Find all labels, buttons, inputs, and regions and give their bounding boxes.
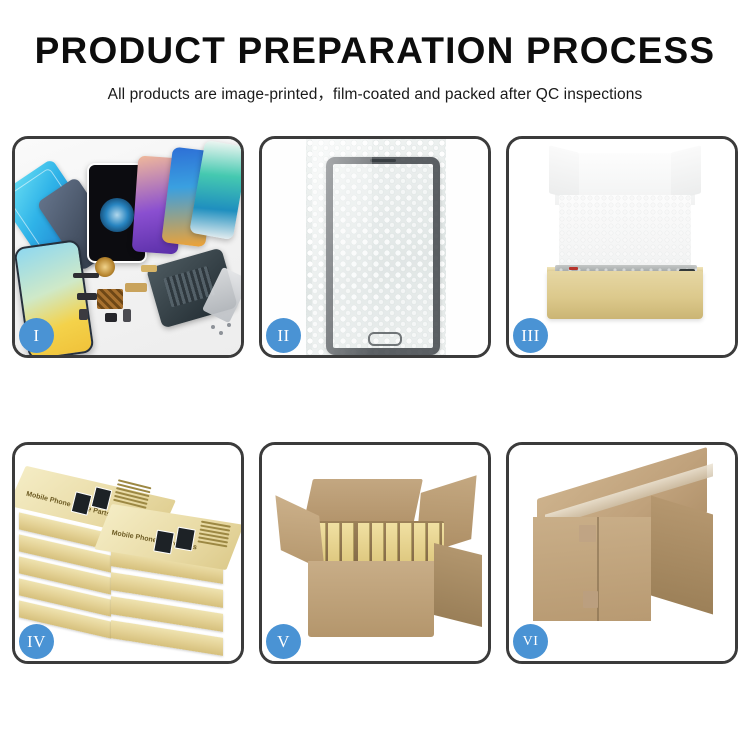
phone-screen-glass bbox=[326, 157, 440, 355]
step-badge-5: V bbox=[266, 624, 301, 659]
box-stack: Mobile Phone Spare Parts Mobile Phone Sp… bbox=[15, 457, 241, 657]
step-badge-1: I bbox=[19, 318, 54, 353]
process-step-3: III bbox=[506, 136, 738, 358]
spare-part-button bbox=[123, 309, 131, 322]
process-step-4: Mobile Phone Spare Parts Mobile Phone Sp… bbox=[12, 442, 244, 664]
step-badge-2: II bbox=[266, 318, 301, 353]
spare-part-camera bbox=[105, 313, 117, 322]
spare-part-grid bbox=[97, 289, 123, 309]
box-checklist-front bbox=[197, 521, 231, 550]
spare-part-flex-cable bbox=[125, 283, 147, 292]
header: PRODUCT PREPARATION PROCESS All products… bbox=[0, 0, 750, 104]
spare-part-gold-clip bbox=[141, 265, 157, 272]
process-step-6: VI bbox=[506, 442, 738, 664]
carton-side-face bbox=[434, 543, 482, 627]
screw-icon bbox=[227, 323, 231, 327]
process-grid: I II III bbox=[12, 136, 738, 664]
spare-part-bracket bbox=[77, 293, 97, 300]
page-subtitle: All products are image-printed，film-coat… bbox=[0, 82, 750, 104]
spare-part-strip bbox=[73, 273, 99, 278]
box-lid-left bbox=[549, 145, 579, 200]
product-preparation-infographic: PRODUCT PREPARATION PROCESS All products… bbox=[0, 0, 750, 750]
carton-flap-back bbox=[303, 479, 423, 525]
process-step-5: V bbox=[259, 442, 491, 664]
screw-icon bbox=[211, 325, 215, 329]
screw-icon bbox=[219, 331, 223, 335]
step-badge-4: IV bbox=[19, 624, 54, 659]
page-title: PRODUCT PREPARATION PROCESS bbox=[0, 32, 750, 69]
process-step-2: II bbox=[259, 136, 491, 358]
step-badge-3: III bbox=[513, 318, 548, 353]
box-front-wall bbox=[547, 271, 703, 319]
carton-tab-upper bbox=[579, 525, 596, 542]
process-step-1: I bbox=[12, 136, 244, 358]
box-lid-right bbox=[671, 145, 701, 200]
box-thumbnail-back bbox=[174, 527, 196, 552]
box-thumbnail-screen bbox=[153, 530, 175, 555]
red-marker bbox=[569, 267, 578, 270]
carton-side-face bbox=[651, 496, 713, 615]
carton-tab-lower bbox=[583, 591, 598, 608]
spare-part-connector bbox=[79, 309, 88, 320]
step-badge-6: VI bbox=[513, 624, 548, 659]
carton-front-face bbox=[308, 561, 434, 637]
